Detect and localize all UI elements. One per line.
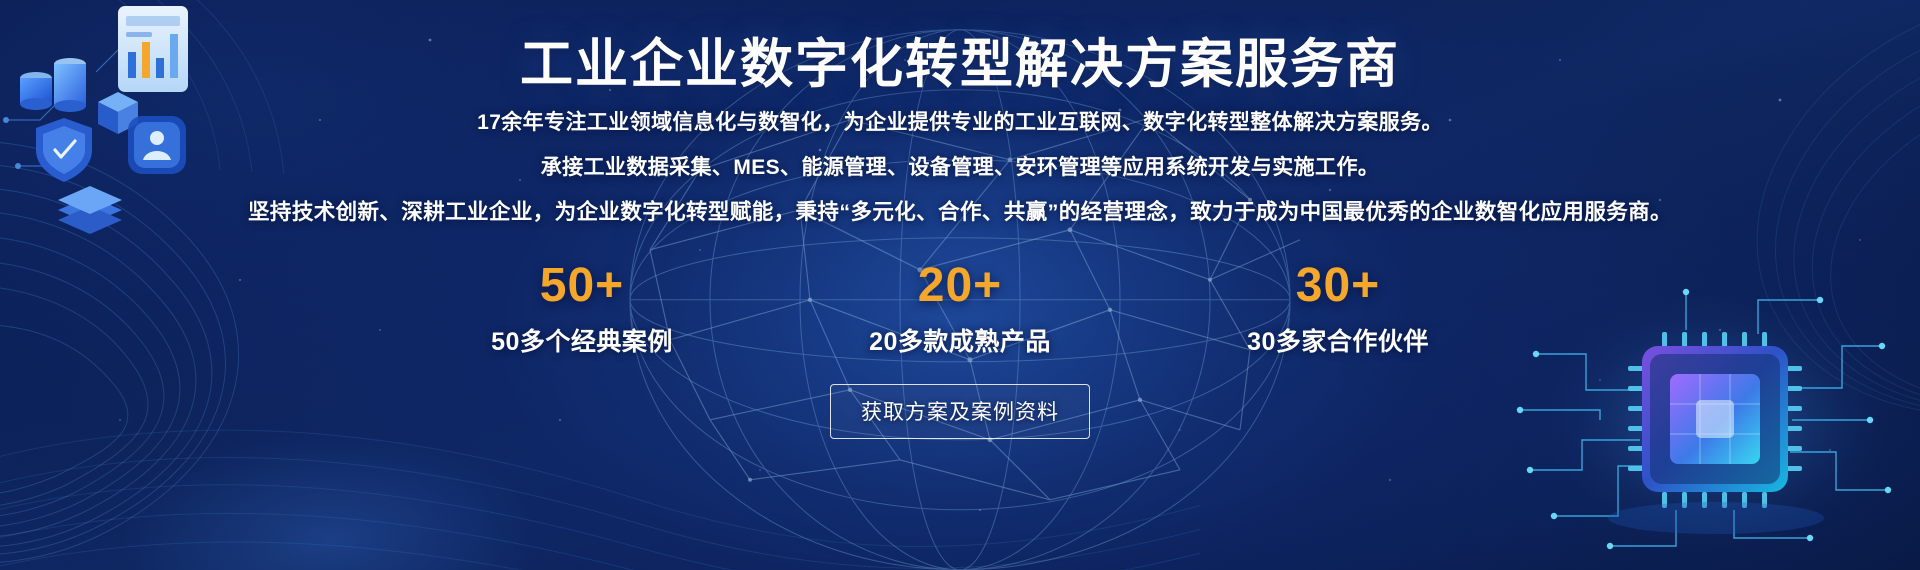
stat-item-cases: 50+ 50多个经典案例	[462, 262, 702, 358]
hero-banner: 工业企业数字化转型解决方案服务商 17余年专注工业领域信息化与数智化，为企业提供…	[0, 0, 1920, 570]
stat-label: 30多家合作伙伴	[1218, 322, 1458, 358]
page-title: 工业企业数字化转型解决方案服务商	[520, 36, 1400, 94]
stat-number: 20+	[840, 262, 1080, 310]
cta-wrapper: 获取方案及案例资料	[830, 384, 1090, 439]
subtitle-block: 17余年专注工业领域信息化与数智化，为企业提供专业的工业互联网、数字化转型整体解…	[248, 112, 1672, 248]
stat-number: 50+	[462, 262, 702, 310]
stat-label: 50多个经典案例	[462, 322, 702, 358]
subtitle-line-1: 17余年专注工业领域信息化与数智化，为企业提供专业的工业互联网、数字化转型整体解…	[248, 112, 1672, 133]
subtitle-line-3: 坚持技术创新、深耕工业企业，为企业数字化转型赋能，秉持“多元化、合作、共赢”的经…	[248, 202, 1672, 224]
stat-number: 30+	[1218, 262, 1458, 310]
stat-label: 20多款成熟产品	[840, 322, 1080, 358]
stats-row: 50+ 50多个经典案例 20+ 20多款成熟产品 30+ 30多家合作伙伴	[462, 262, 1458, 358]
stat-item-products: 20+ 20多款成熟产品	[840, 262, 1080, 358]
get-materials-button[interactable]: 获取方案及案例资料	[830, 384, 1090, 439]
subtitle-line-2: 承接工业数据采集、MES、能源管理、设备管理、安环管理等应用系统开发与实施工作。	[248, 157, 1672, 178]
stat-item-partners: 30+ 30多家合作伙伴	[1218, 262, 1458, 358]
banner-content: 工业企业数字化转型解决方案服务商 17余年专注工业领域信息化与数智化，为企业提供…	[0, 0, 1920, 570]
